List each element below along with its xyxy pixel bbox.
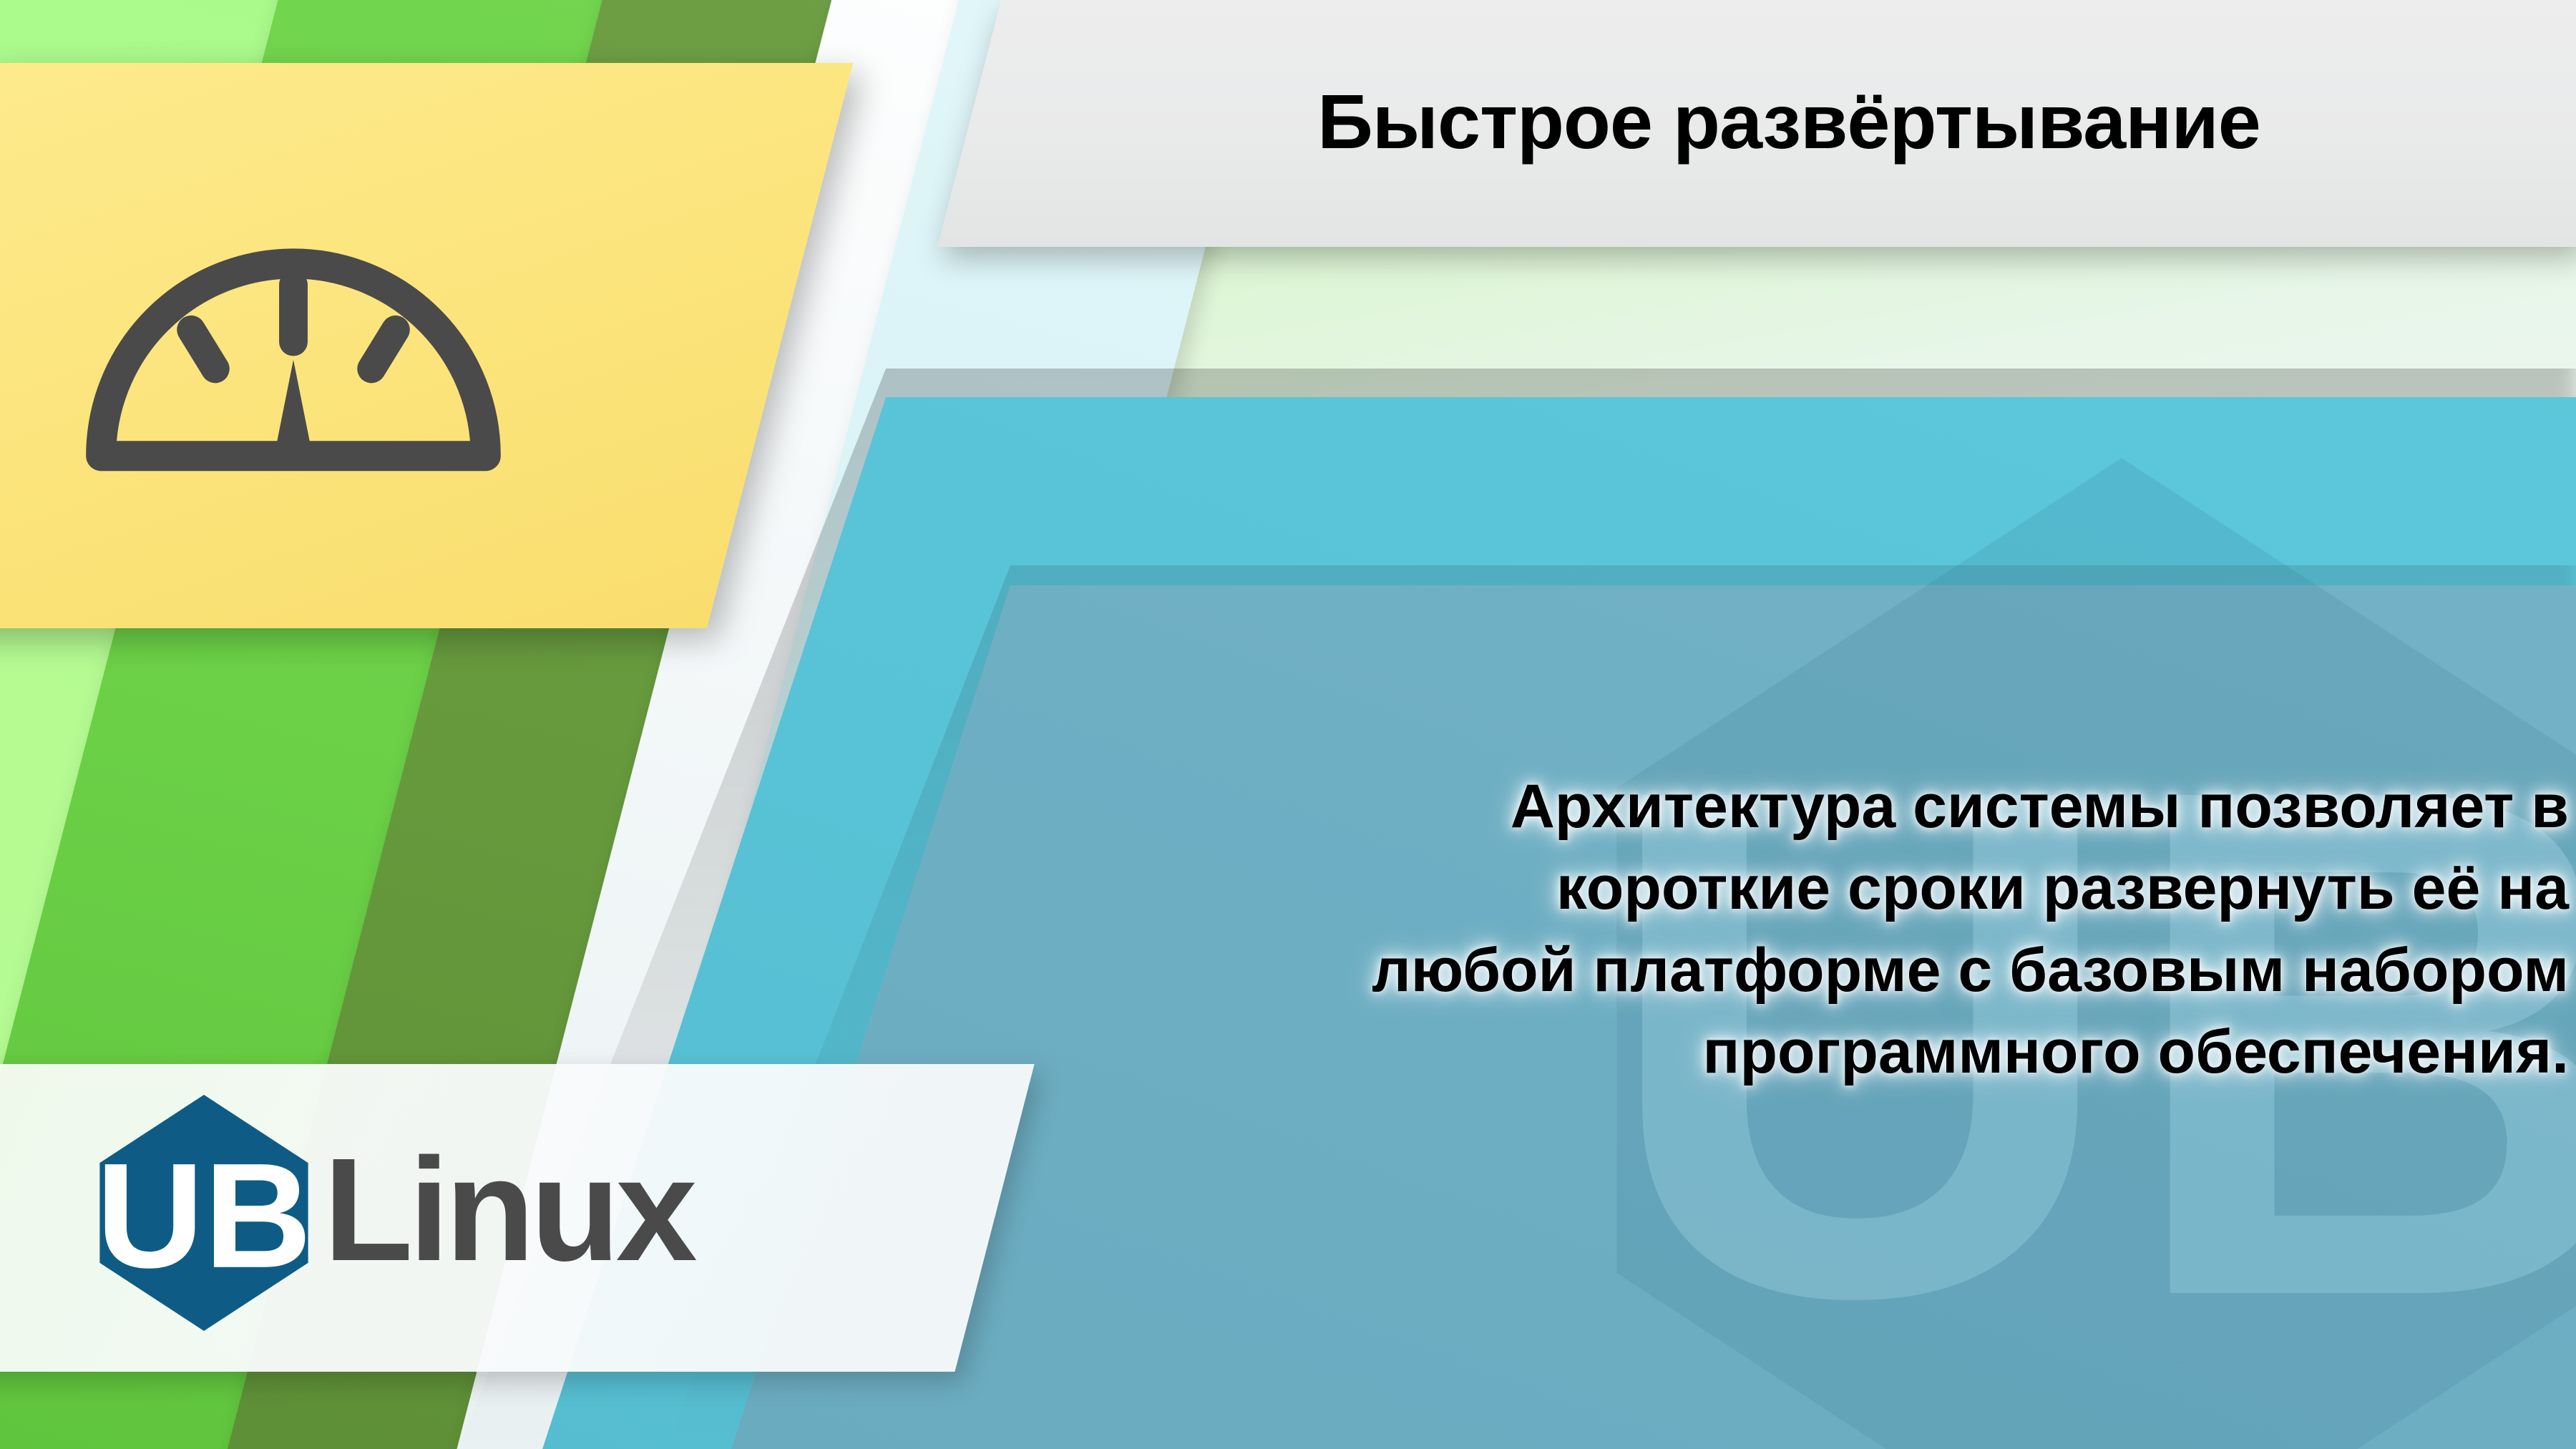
logo-wordmark: Linux — [323, 1136, 693, 1283]
body-line: любой платформе с базовым набором — [1152, 930, 2569, 1011]
speedometer-icon — [68, 182, 519, 483]
brand-logo: UB Linux — [86, 1095, 693, 1331]
body-line: программного обеспечения. — [1152, 1011, 2569, 1093]
slide-canvas: UB Быстрое развёртывание Архитектура сис… — [0, 0, 2576, 1449]
page-title: Быстрое развёртывание — [1253, 77, 2260, 170]
body-text: Архитектура системы позволяет в короткие… — [1152, 766, 2576, 1093]
logo-mark-text: UB — [96, 1133, 311, 1299]
body-line: короткие сроки развернуть её на — [1152, 847, 2569, 929]
ub-hexagon-icon: UB — [86, 1095, 322, 1331]
body-line: Архитектура системы позволяет в — [1152, 766, 2569, 847]
title-container: Быстрое развёртывание — [937, 0, 2576, 247]
